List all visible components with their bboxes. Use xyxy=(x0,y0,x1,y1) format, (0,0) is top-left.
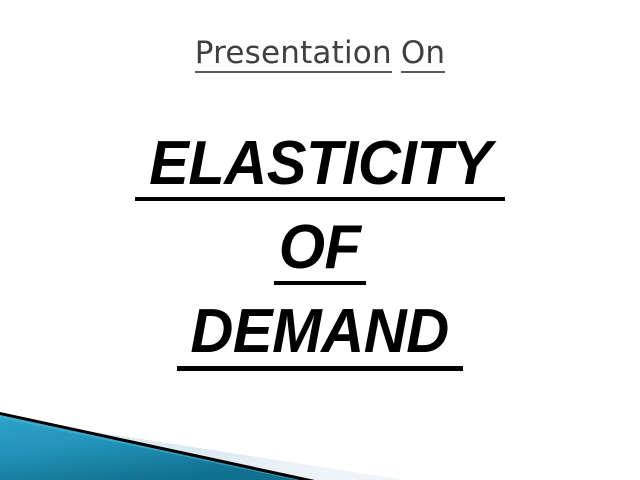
slide-title: ELASTICITY OF DEMAND xyxy=(0,133,640,371)
title-text-elasticity: ELASTICITY xyxy=(149,133,491,195)
subtitle-word-on: On xyxy=(401,36,445,73)
presentation-slide: PresentationOn ELASTICITY OF DEMAND xyxy=(0,0,640,480)
band-pale-blue xyxy=(0,417,405,480)
title-line-of: OF xyxy=(0,217,640,285)
title-underline-demand xyxy=(177,366,463,371)
band-teal-highlight xyxy=(0,415,300,480)
corner-angles-svg xyxy=(0,395,640,480)
subtitle-text: PresentationOn xyxy=(195,36,446,73)
corner-angles-icon xyxy=(0,395,640,480)
title-text-demand: DEMAND xyxy=(191,301,449,363)
band-teal xyxy=(0,415,300,480)
band-black xyxy=(0,412,315,480)
subtitle-word-presentation: Presentation xyxy=(195,36,392,73)
slide-subtitle: PresentationOn xyxy=(0,36,640,73)
title-line-demand: DEMAND xyxy=(0,301,640,371)
title-line-elasticity: ELASTICITY xyxy=(0,133,640,201)
title-text-of: OF xyxy=(279,217,361,279)
